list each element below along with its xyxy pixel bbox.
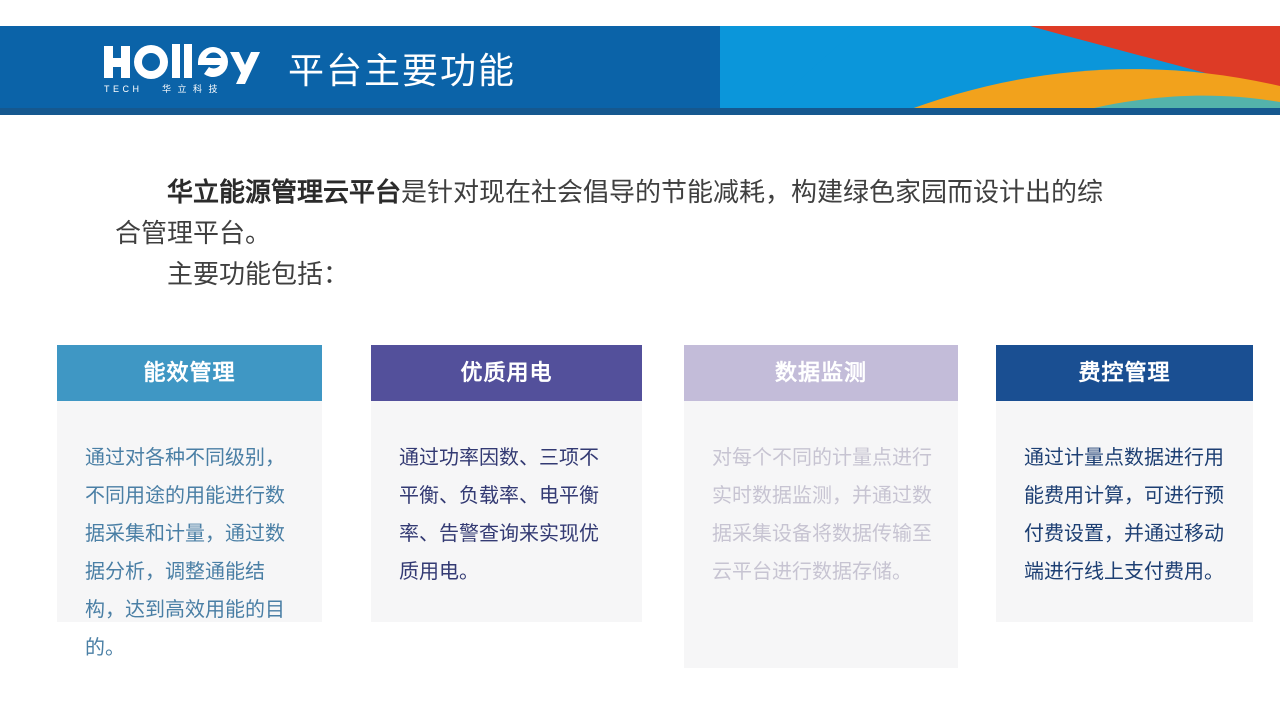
card-title: 能效管理 <box>57 345 322 401</box>
card-body-text: 通过计量点数据进行用能费用计算，可进行预付费设置，并通过移动端进行线上支付费用。 <box>1024 439 1229 591</box>
card-title: 优质用电 <box>371 345 642 401</box>
feature-card-energy-efficiency[interactable]: 能效管理 通过对各种不同级别，不同用途的用能进行数据采集和计量，通过数据分析，调… <box>57 345 322 622</box>
feature-card-fee-control[interactable]: 费控管理 通过计量点数据进行用能费用计算，可进行预付费设置，并通过移动端进行线上… <box>996 345 1253 622</box>
feature-cards: 能效管理 通过对各种不同级别，不同用途的用能进行数据采集和计量，通过数据分析，调… <box>0 0 1280 720</box>
card-body-text: 通过对各种不同级别，不同用途的用能进行数据采集和计量，通过数据分析，调整通能结构… <box>85 439 298 667</box>
card-body-text: 对每个不同的计量点进行实时数据监测，并通过数据采集设备将数据传输至云平台进行数据… <box>712 439 934 591</box>
card-body-text: 通过功率因数、三项不平衡、负载率、电平衡率、告警查询来实现优质用电。 <box>399 439 618 591</box>
card-body: 通过计量点数据进行用能费用计算，可进行预付费设置，并通过移动端进行线上支付费用。 <box>996 401 1253 622</box>
card-title: 数据监测 <box>684 345 958 401</box>
feature-card-power-quality[interactable]: 优质用电 通过功率因数、三项不平衡、负载率、电平衡率、告警查询来实现优质用电。 <box>371 345 642 622</box>
feature-card-data-monitoring[interactable]: 数据监测 对每个不同的计量点进行实时数据监测，并通过数据采集设备将数据传输至云平… <box>684 345 958 668</box>
card-title: 费控管理 <box>996 345 1253 401</box>
card-body: 通过对各种不同级别，不同用途的用能进行数据采集和计量，通过数据分析，调整通能结构… <box>57 401 322 622</box>
slide-root: TECH 华 立 科 技 平台主要功能 华立能源管理云平台是针对现在社会倡导的节… <box>0 0 1280 720</box>
card-body: 通过功率因数、三项不平衡、负载率、电平衡率、告警查询来实现优质用电。 <box>371 401 642 622</box>
card-body: 对每个不同的计量点进行实时数据监测，并通过数据采集设备将数据传输至云平台进行数据… <box>684 401 958 668</box>
